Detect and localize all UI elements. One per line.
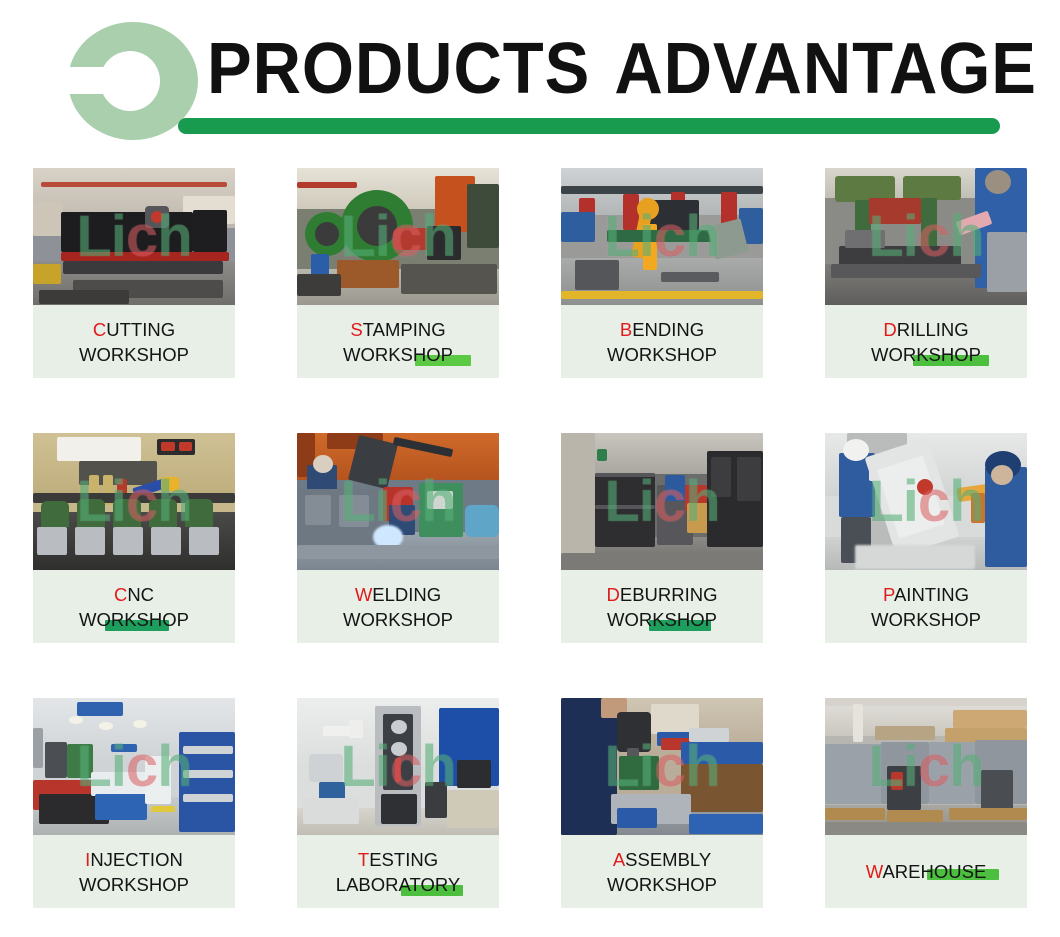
caption-line-1: PAINTING xyxy=(883,582,969,607)
caption-rest-1: NC xyxy=(127,584,154,605)
page-title: PRODUCTSADVANTAGE xyxy=(207,30,1037,108)
caption-injection: INJECTION WORKSHOP xyxy=(33,835,235,908)
card-welding[interactable]: Lich WELDING WORKSHOP xyxy=(297,433,499,643)
caption-testing: TESTING LABORATORY xyxy=(297,835,499,908)
caption-line-2: WORKSHOP xyxy=(79,342,189,367)
caption-first-letter: A xyxy=(613,849,625,870)
caption-rest-1: TAMPING xyxy=(363,319,446,340)
caption-warehouse: WAREHOUSE xyxy=(825,835,1027,908)
caption-line-1: CNC xyxy=(114,582,154,607)
caption-first-letter: W xyxy=(866,861,883,882)
photo-bending-workshop: Lich xyxy=(561,168,763,305)
caption-rest-1: EBURRING xyxy=(620,584,718,605)
caption-line-2: LABORATORY xyxy=(336,872,460,897)
photo-testing-laboratory: Lich xyxy=(297,698,499,835)
caption-line-1: WELDING xyxy=(355,582,441,607)
caption-rest-1: AREHOUSE xyxy=(882,861,986,882)
caption-first-letter: D xyxy=(606,584,619,605)
photo-cnc-workshop: Lich xyxy=(33,433,235,570)
photo-deburring-workshop: Lich xyxy=(561,433,763,570)
caption-painting: PAINTING WORKSHOP xyxy=(825,570,1027,643)
caption-rest-1: ELDING xyxy=(372,584,441,605)
caption-line-1: STAMPING xyxy=(350,317,445,342)
photo-cutting-workshop: Lich xyxy=(33,168,235,305)
card-cnc[interactable]: Lich CNC WORKSHOP xyxy=(33,433,235,643)
card-injection[interactable]: Lich INJECTION WORKSHOP xyxy=(33,698,235,908)
caption-assembly: ASSEMBLY WORKSHOP xyxy=(561,835,763,908)
caption-deburring: DEBURRING WORKSHOP xyxy=(561,570,763,643)
page-header: PRODUCTSADVANTAGE xyxy=(0,0,1060,152)
card-drilling[interactable]: Lich DRILLING WORKSHOP xyxy=(825,168,1027,378)
caption-line-2: WORKSHOP xyxy=(607,342,717,367)
caption-line-2: WORKSHOP xyxy=(79,872,189,897)
caption-line-2: WORKSHOP xyxy=(79,607,189,632)
caption-line-1: INJECTION xyxy=(85,847,183,872)
caption-cnc: CNC WORKSHOP xyxy=(33,570,235,643)
caption-welding: WELDING WORKSHOP xyxy=(297,570,499,643)
caption-bending: BENDING WORKSHOP xyxy=(561,305,763,378)
workshop-card-grid: Lich CUTTING WORKSHOP xyxy=(33,168,1029,908)
card-cutting[interactable]: Lich CUTTING WORKSHOP xyxy=(33,168,235,378)
caption-first-letter: W xyxy=(355,584,372,605)
caption-first-letter: B xyxy=(620,319,632,340)
caption-line-2: WORKSHOP xyxy=(871,342,981,367)
products-advantage-page: PRODUCTSADVANTAGE Lich xyxy=(0,0,1060,937)
caption-first-letter: S xyxy=(350,319,362,340)
caption-first-letter: C xyxy=(93,319,106,340)
caption-first-letter: P xyxy=(883,584,894,605)
caption-line-1: DEBURRING xyxy=(606,582,717,607)
caption-rest-1: ESTING xyxy=(369,849,438,870)
caption-line-1: ASSEMBLY xyxy=(613,847,711,872)
page-title-part2: ADVANTAGE xyxy=(614,29,1037,109)
caption-drilling: DRILLING WORKSHOP xyxy=(825,305,1027,378)
caption-line-1: BENDING xyxy=(620,317,704,342)
photo-painting-workshop: Lich xyxy=(825,433,1027,570)
caption-rest-1: ENDING xyxy=(632,319,704,340)
card-deburring[interactable]: Lich DEBURRING WORKSHOP xyxy=(561,433,763,643)
caption-rest-1: RILLING xyxy=(897,319,969,340)
card-stamping[interactable]: Lich STAMPING WORKSHOP xyxy=(297,168,499,378)
photo-injection-workshop: Lich xyxy=(33,698,235,835)
caption-rest-1: SSEMBLY xyxy=(625,849,711,870)
caption-cutting: CUTTING WORKSHOP xyxy=(33,305,235,378)
photo-assembly-workshop: Lich xyxy=(561,698,763,835)
card-warehouse[interactable]: Lich WAREHOUSE xyxy=(825,698,1027,908)
photo-drilling-workshop: Lich xyxy=(825,168,1027,305)
card-testing[interactable]: Lich TESTING LABORATORY xyxy=(297,698,499,908)
caption-stamping: STAMPING WORKSHOP xyxy=(297,305,499,378)
caption-rest-1: UTTING xyxy=(106,319,175,340)
photo-warehouse: Lich xyxy=(825,698,1027,835)
caption-rest-1: NJECTION xyxy=(90,849,183,870)
photo-welding-workshop: Lich xyxy=(297,433,499,570)
page-title-part1: PRODUCTS xyxy=(207,29,590,109)
caption-line-1: TESTING xyxy=(358,847,438,872)
header-green-bar xyxy=(178,118,1000,134)
card-painting[interactable]: Lich PAINTING WORKSHOP xyxy=(825,433,1027,643)
caption-line-1: DRILLING xyxy=(883,317,968,342)
card-bending[interactable]: Lich BENDING WORKSHOP xyxy=(561,168,763,378)
caption-rest-1: AINTING xyxy=(894,584,969,605)
card-assembly[interactable]: Lich ASSEMBLY WORKSHOP xyxy=(561,698,763,908)
caption-line-2: WORKSHOP xyxy=(343,342,453,367)
caption-line-2: WORKSHOP xyxy=(871,607,981,632)
caption-first-letter: T xyxy=(358,849,369,870)
caption-first-letter: D xyxy=(883,319,896,340)
photo-stamping-workshop: Lich xyxy=(297,168,499,305)
caption-line-1: WAREHOUSE xyxy=(866,859,987,884)
caption-line-2: WORKSHOP xyxy=(343,607,453,632)
caption-line-1: CUTTING xyxy=(93,317,175,342)
caption-line-2: WORKSHOP xyxy=(607,872,717,897)
caption-line-2: WORKSHOP xyxy=(607,607,717,632)
caption-first-letter: C xyxy=(114,584,127,605)
